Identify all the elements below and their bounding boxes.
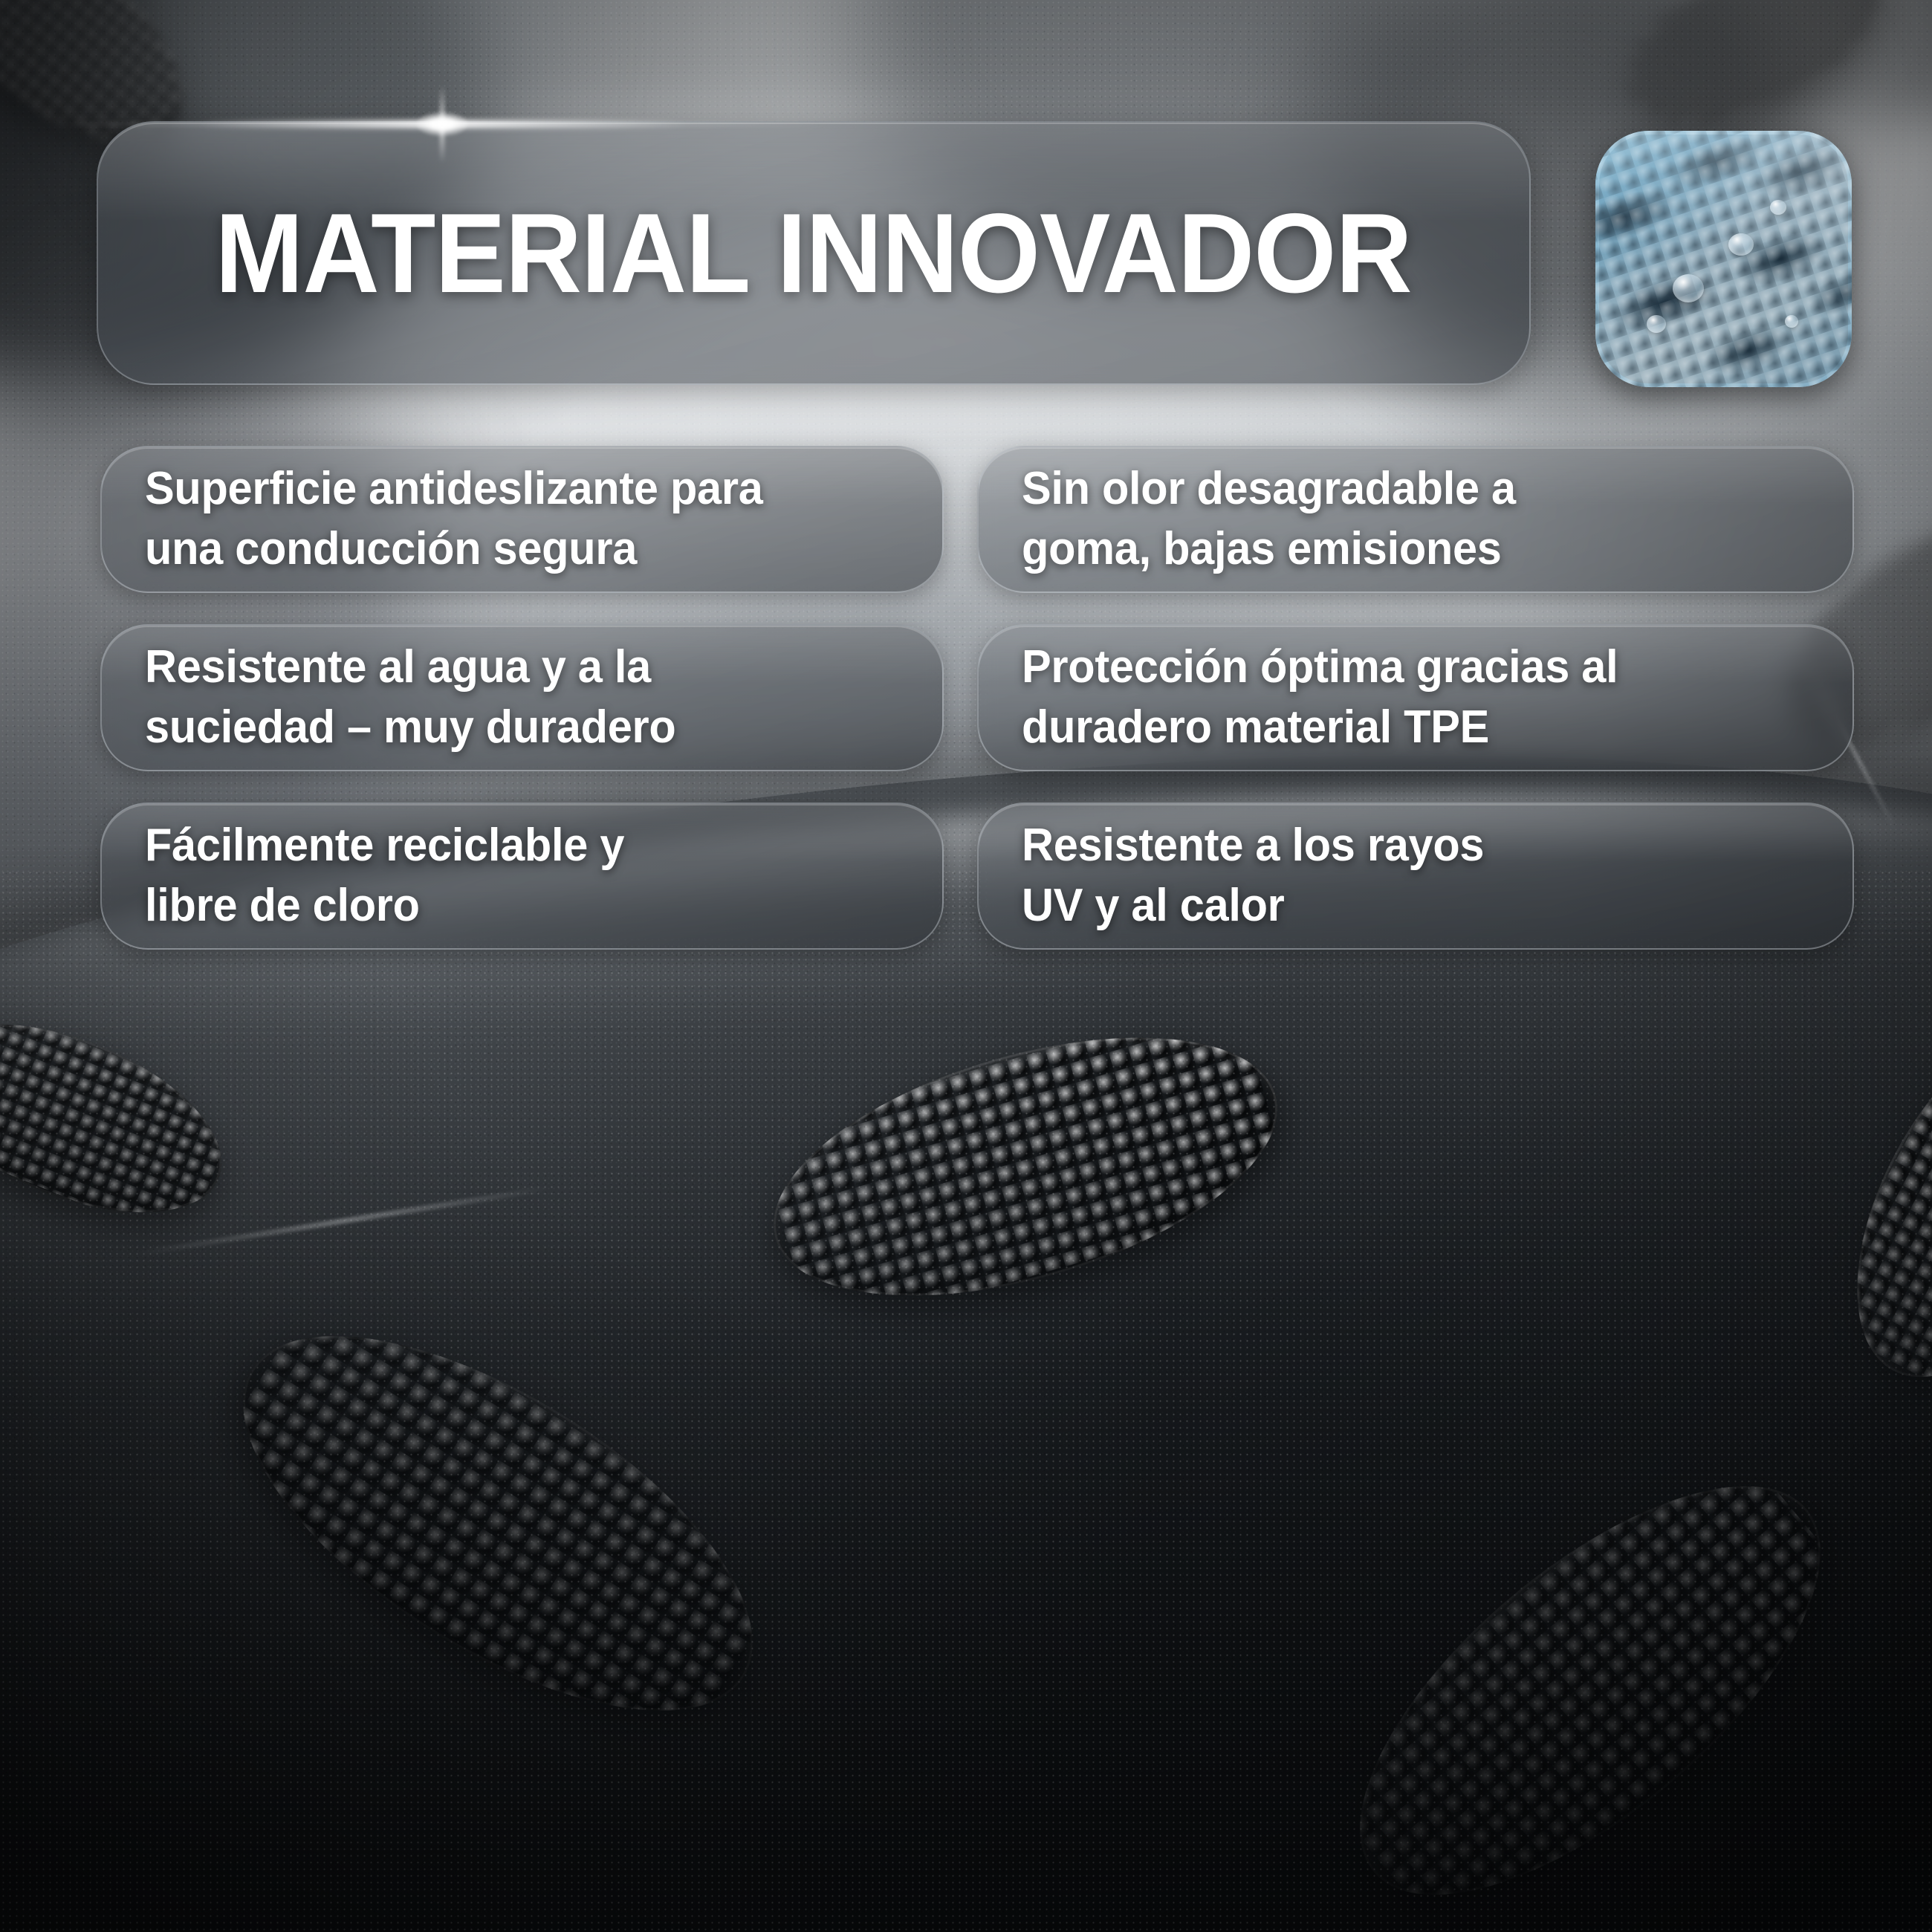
feature-card-text: Resistente a los rayos UV y al calor bbox=[1022, 816, 1484, 936]
page-title-text: MATERIAL INNOVADOR bbox=[215, 197, 1412, 310]
feature-card-text: Protección óptima gracias al duradero ma… bbox=[1022, 638, 1618, 757]
feature-slot: Fácilmente reciclable y libre de cloro bbox=[100, 803, 977, 950]
feature-card-text: Fácilmente reciclable y libre de cloro bbox=[145, 816, 624, 936]
feature-card-anti-slip: Superficie antideslizante para una condu… bbox=[100, 446, 944, 593]
feature-card-uv-heat: Resistente a los rayos UV y al calor bbox=[977, 803, 1854, 950]
content-overlay: MATERIAL INNOVADOR Superficie antidesliz… bbox=[0, 0, 1932, 1932]
feature-slot: Sin olor desagradable a goma, bajas emis… bbox=[977, 446, 1854, 593]
feature-card-recyclable: Fácilmente reciclable y libre de cloro bbox=[100, 803, 944, 950]
feature-card-grid: Superficie antideslizante para una condu… bbox=[100, 446, 1854, 950]
feature-card-text: Resistente al agua y a la suciedad – muy… bbox=[145, 638, 675, 757]
feature-slot: Resistente a los rayos UV y al calor bbox=[977, 803, 1854, 950]
feature-slot: Resistente al agua y a la suciedad – muy… bbox=[100, 624, 977, 771]
feature-card-water-dirt: Resistente al agua y a la suciedad – muy… bbox=[100, 624, 944, 771]
infographic-canvas: MATERIAL INNOVADOR Superficie antidesliz… bbox=[0, 0, 1932, 1932]
water-droplet-icon bbox=[1673, 274, 1704, 302]
feature-slot: Superficie antideslizante para una condu… bbox=[100, 446, 977, 593]
feature-card-text: Superficie antideslizante para una condu… bbox=[145, 459, 763, 579]
feature-card-text: Sin olor desagradable a goma, bajas emis… bbox=[1022, 459, 1516, 579]
icon-gloss bbox=[1595, 131, 1852, 249]
feature-slot: Protección óptima gracias al duradero ma… bbox=[977, 624, 1854, 771]
feature-card-tpe-protect: Protección óptima gracias al duradero ma… bbox=[977, 624, 1854, 771]
page-title: MATERIAL INNOVADOR bbox=[98, 197, 1529, 310]
tpe-mat-texture-thumbnail bbox=[1595, 131, 1852, 387]
feature-card-no-odor: Sin olor desagradable a goma, bajas emis… bbox=[977, 446, 1854, 593]
title-banner: MATERIAL INNOVADOR bbox=[97, 121, 1531, 385]
